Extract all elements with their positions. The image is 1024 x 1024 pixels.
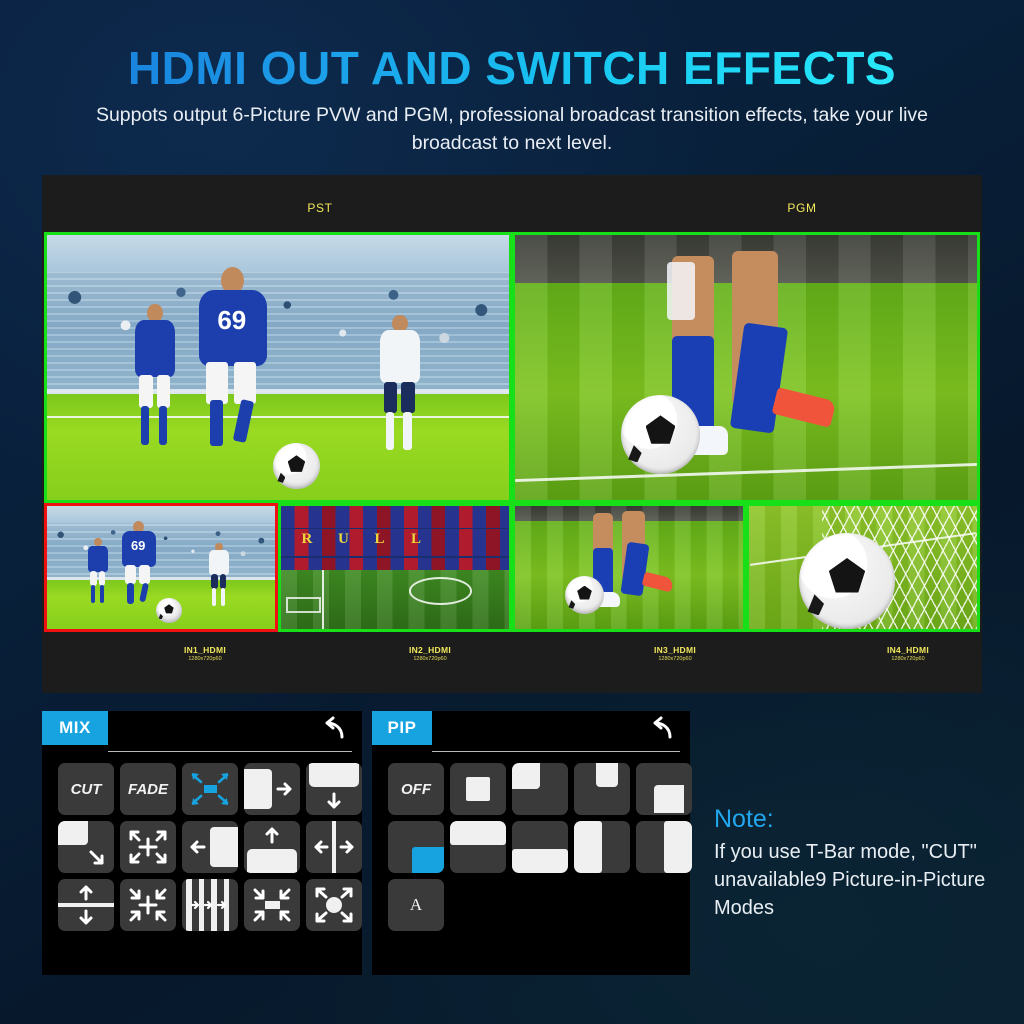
player-white-right <box>375 315 426 458</box>
mix-wipe-left-to-right-button[interactable] <box>244 763 300 815</box>
pgm-program-pane[interactable] <box>512 232 980 503</box>
divider <box>108 751 352 752</box>
circle-expand-icon <box>306 918 362 931</box>
input-tag-bar: IN1_HDMI 1280x720p60 IN2_HDMI 1280x720p6… <box>42 640 982 688</box>
soccer-ball <box>621 395 700 474</box>
cross-contract-in-icon <box>120 918 176 931</box>
mix-bars-slide-button[interactable] <box>182 879 238 931</box>
mix-fade-button[interactable]: FADE <box>120 763 176 815</box>
note-block: Note: If you use T-Bar mode, "CUT" unava… <box>714 806 1014 923</box>
input-resolution: 1280x720p60 <box>887 656 929 662</box>
pip-off-button[interactable]: OFF <box>388 763 444 815</box>
goal-net-scene <box>749 506 977 629</box>
input-tag-3: IN3_HDMI 1280x720p60 <box>654 645 696 662</box>
undo-arrow-icon[interactable] <box>650 715 676 743</box>
mix-contract-cross-in-button[interactable] <box>120 879 176 931</box>
mix-wipe-bottom-to-top-button[interactable] <box>244 821 300 873</box>
pip-text-overlay-button[interactable]: A <box>388 879 444 931</box>
input-name: IN1_HDMI <box>184 645 226 655</box>
divider <box>432 751 680 752</box>
note-body: If you use T-Bar mode, "CUT" unavailable… <box>714 838 1014 923</box>
soccer-scene-legs <box>515 235 977 500</box>
contract-box-icon <box>244 918 300 931</box>
soccer-scene-legs-thumb <box>515 506 743 629</box>
mix-split-horizontal-open-button[interactable] <box>306 821 362 873</box>
input-thumbnail-2[interactable]: R U L L <box>278 503 512 632</box>
pip-split-right-button[interactable] <box>636 821 692 873</box>
pip-bottom-right-button[interactable] <box>388 821 444 873</box>
pip-bottom-right-outset-button[interactable] <box>636 763 692 815</box>
header: HDMI OUT AND SWITCH EFFECTS Suppots outp… <box>0 0 1024 158</box>
note-heading: Note: <box>714 806 1014 834</box>
input-tag-2: IN2_HDMI 1280x720p60 <box>409 645 451 662</box>
pip-split-top-button[interactable] <box>450 821 506 873</box>
player-blue-left <box>130 304 181 452</box>
undo-arrow-icon[interactable] <box>322 715 348 743</box>
pip-panel: PIP OFF <box>372 711 690 975</box>
mix-contract-box-button[interactable] <box>244 879 300 931</box>
mix-wipe-top-to-bottom-button[interactable] <box>306 763 362 815</box>
stadium-mosaic-scene: R U L L <box>281 506 509 629</box>
pip-center-button[interactable] <box>450 763 506 815</box>
pst-label: PST <box>307 201 332 215</box>
soccer-scene-wide: 69 <box>47 235 509 500</box>
input-tag-4: IN4_HDMI 1280x720p60 <box>887 645 929 662</box>
input-name: IN3_HDMI <box>654 645 696 655</box>
pip-top-right-button[interactable] <box>574 763 630 815</box>
page-title: HDMI OUT AND SWITCH EFFECTS <box>0 0 1024 92</box>
mix-wipe-corner-diagonal-button[interactable] <box>58 821 114 873</box>
multiview-header: PST PGM <box>42 175 982 232</box>
soccer-ball <box>799 533 895 629</box>
soccer-scene-wide-thumb: 69 <box>47 506 275 629</box>
tab-pip[interactable]: PIP <box>372 711 432 745</box>
mix-circle-expand-button[interactable] <box>306 879 362 931</box>
input-thumbnail-3[interactable] <box>512 503 746 632</box>
input-name: IN4_HDMI <box>887 645 929 655</box>
pip-modes-grid: OFF <box>388 763 680 931</box>
pst-preview-pane[interactable]: 69 <box>44 232 512 503</box>
cross-expand-out-icon <box>120 860 176 873</box>
input-name: IN2_HDMI <box>409 645 451 655</box>
pgm-label: PGM <box>787 201 816 215</box>
input-resolution: 1280x720p60 <box>184 656 226 662</box>
multiview-monitor: PST PGM 69 <box>42 175 982 693</box>
player-69: 69 <box>186 267 278 458</box>
mix-expand-box-button[interactable] <box>182 763 238 815</box>
mix-split-vertical-open-button[interactable] <box>58 879 114 931</box>
tab-mix[interactable]: MIX <box>42 711 108 745</box>
mix-expand-cross-out-button[interactable] <box>120 821 176 873</box>
mix-wipe-right-to-left-button[interactable] <box>182 821 238 873</box>
input-resolution: 1280x720p60 <box>409 656 451 662</box>
pip-split-left-button[interactable] <box>574 821 630 873</box>
mix-panel: MIX CUT FADE <box>42 711 362 975</box>
input-thumbnail-1[interactable]: 69 <box>44 503 278 632</box>
pip-split-bottom-button[interactable] <box>512 821 568 873</box>
input-thumbnail-4[interactable] <box>746 503 980 632</box>
input-resolution: 1280x720p60 <box>654 656 696 662</box>
mix-cut-button[interactable]: CUT <box>58 763 114 815</box>
mix-effects-grid: CUT FADE <box>58 763 352 931</box>
pip-top-left-button[interactable] <box>512 763 568 815</box>
input-tag-1: IN1_HDMI 1280x720p60 <box>184 645 226 662</box>
promo-page: HDMI OUT AND SWITCH EFFECTS Suppots outp… <box>0 0 1024 1024</box>
multiview-grid: 69 <box>44 232 980 632</box>
soccer-ball <box>273 443 319 489</box>
page-subtitle: Suppots output 6-Picture PVW and PGM, pr… <box>52 102 972 157</box>
expand-box-icon <box>182 802 238 815</box>
